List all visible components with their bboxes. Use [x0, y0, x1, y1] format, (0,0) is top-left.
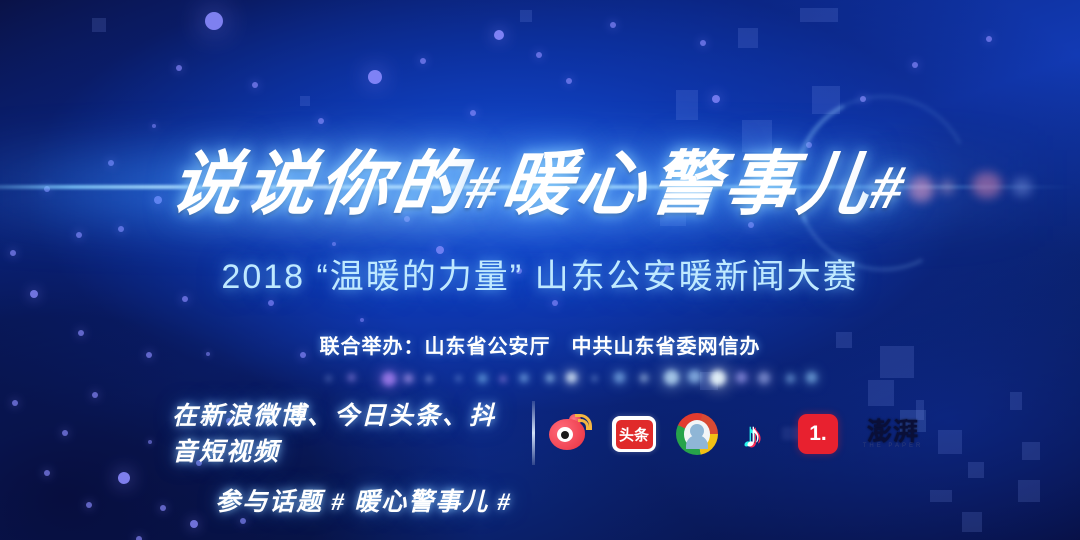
douyin-note-white: ♪: [744, 417, 762, 453]
particle-dot: [470, 110, 476, 116]
thepaper-logo[interactable]: 澎湃 THE PAPER: [858, 412, 928, 456]
decorative-square: [1018, 480, 1040, 502]
organizer-line: 联合举办：山东省公安厅 中共山东省委网信办: [0, 330, 1080, 359]
bokeh-dot: [710, 370, 726, 386]
particle-dot: [252, 82, 258, 88]
title-hash-close: #: [868, 154, 911, 222]
page-subtitle: 2018 “温暖的力量” 山东公安暖新闻大赛: [0, 249, 1080, 298]
particle-dot: [610, 22, 616, 28]
particle-dot: [136, 536, 142, 540]
platform-logo-row: 头条 ♪ ♪ ♪ 1. 澎湃 THE PAPER: [548, 412, 928, 456]
bokeh-dot: [786, 374, 795, 383]
bokeh-dot: [566, 372, 577, 383]
particle-dot: [420, 58, 426, 64]
particle-dot: [190, 520, 198, 528]
decorative-square: [868, 380, 894, 406]
particle-dot: [268, 300, 274, 306]
bokeh-dot: [664, 370, 679, 385]
decorative-square: [300, 96, 310, 106]
decorative-square: [676, 90, 698, 120]
hashtag-line-2: 参与话题 # 暖心警事儿 #: [172, 482, 512, 518]
particle-dot: [240, 518, 246, 524]
poster-canvas: 说说你的#暖心警事儿# 2018 “温暖的力量” 山东公安暖新闻大赛 联合举办：…: [0, 0, 1080, 540]
bokeh-dot: [758, 372, 770, 384]
particle-dot: [494, 30, 504, 40]
title-topic: 暖心警事儿: [497, 147, 876, 224]
particle-dot: [44, 470, 50, 476]
bokeh-dot: [404, 374, 413, 383]
particle-dot: [12, 400, 18, 406]
decorative-square: [930, 490, 952, 502]
vertical-divider: [532, 401, 535, 465]
decorative-square: [962, 512, 982, 532]
particle-dot: [986, 36, 992, 42]
particle-dot: [76, 232, 82, 238]
particle-dot: [700, 40, 706, 46]
douyin-logo[interactable]: ♪ ♪ ♪: [738, 413, 778, 455]
particle-dot: [86, 502, 92, 508]
decorative-square: [700, 372, 718, 390]
decorative-square: [1010, 392, 1022, 410]
qilu-circle-logo[interactable]: [676, 413, 718, 455]
particle-dot: [176, 65, 182, 71]
particle-dot: [92, 392, 98, 398]
page-title: 说说你的#暖心警事儿#: [0, 128, 1080, 229]
bokeh-dot: [546, 374, 554, 382]
decorative-square: [738, 28, 758, 48]
decorative-square: [800, 8, 838, 22]
decorative-square: [938, 430, 962, 454]
particle-dot: [318, 118, 324, 124]
particle-dot: [360, 318, 364, 322]
particle-dot: [912, 62, 918, 68]
particle-dot: [148, 440, 152, 444]
particle-dot: [712, 95, 720, 103]
bokeh-dot: [456, 376, 461, 381]
particle-dot: [62, 430, 68, 436]
particle-dot: [368, 70, 382, 84]
bokeh-dot: [640, 374, 648, 382]
particle-dot: [536, 52, 542, 58]
bokeh-dot: [326, 376, 331, 381]
decorative-square: [1022, 442, 1040, 460]
yidian-logo[interactable]: 1.: [798, 414, 838, 454]
title-lead: 说说你的: [166, 147, 471, 224]
bokeh-dot: [614, 372, 625, 383]
particle-dot: [332, 242, 336, 246]
bokeh-dot: [688, 370, 701, 383]
particle-dot: [205, 12, 223, 30]
weibo-eye-pupil: [561, 431, 569, 439]
toutiao-logo-label: 头条: [616, 420, 653, 449]
bokeh-dot: [426, 376, 432, 382]
decorative-square: [520, 10, 532, 22]
bokeh-dot: [348, 374, 355, 381]
decorative-square: [968, 462, 984, 478]
particle-dot: [160, 505, 166, 511]
decorative-square: [92, 18, 106, 32]
bokeh-dot: [478, 374, 487, 383]
hashtag-call-to-action: 在新浪微博、今日头条、抖音短视频 参与话题 # 暖心警事儿 #: [172, 396, 512, 518]
bokeh-dot: [736, 372, 747, 383]
particle-dot: [566, 78, 572, 84]
particle-dot: [552, 300, 558, 306]
bokeh-dot: [806, 372, 817, 383]
toutiao-logo[interactable]: 头条: [612, 416, 656, 452]
weibo-logo[interactable]: [548, 412, 592, 456]
bokeh-dot: [592, 376, 597, 381]
hashtag-line-1: 在新浪微博、今日头条、抖音短视频: [172, 396, 512, 468]
thepaper-english-wordmark: THE PAPER: [858, 443, 928, 449]
bokeh-dot: [500, 376, 506, 382]
bokeh-dot: [382, 372, 396, 386]
particle-dot: [118, 472, 130, 484]
bokeh-dot: [520, 374, 528, 382]
